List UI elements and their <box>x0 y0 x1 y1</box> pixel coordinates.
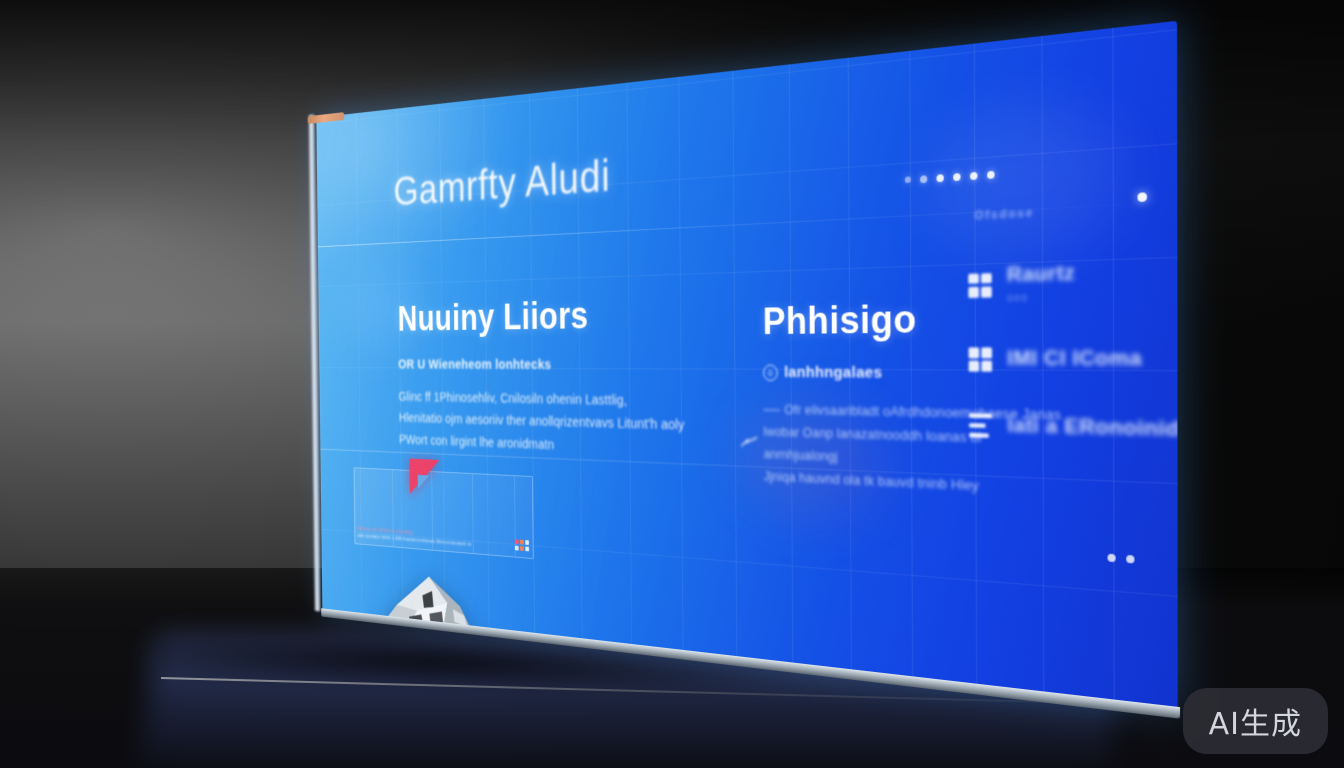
ai-generated-watermark: AI生成 <box>1183 688 1328 754</box>
check-tick-icon <box>740 436 758 449</box>
dash-lead-icon <box>763 409 779 411</box>
step-dot[interactable] <box>936 174 943 182</box>
panel-screen: Gamrfty Aludi Nuuiny Liiors OR U Wienehe… <box>316 21 1177 709</box>
sidebar-item-label: lati a ERonoinid <box>1007 414 1177 443</box>
circle-face-icon: ☺ <box>763 365 778 381</box>
body-line: lwobar Oanp lanazatnooddh loanas bl anrn… <box>763 421 1067 478</box>
right-column-heading: Phhisigo <box>763 294 1067 344</box>
step-dot[interactable] <box>987 171 995 179</box>
sidebar-item-label: Raurtz <box>1007 261 1076 287</box>
body-line: Jjniqa hauvnd ola tk bauvd tninb Hley <box>764 465 1068 502</box>
right-column-subheading-row: ☺ lanhhngalaes <box>763 364 1067 385</box>
corner-status-dot <box>1137 192 1147 202</box>
bars-list-icon <box>969 413 992 438</box>
sidebar-panel: Ofsdose Raurtz ooo IMI Cl IComa <box>968 199 1173 443</box>
watermark-label: AI生成 <box>1209 699 1302 743</box>
step-dot[interactable] <box>970 172 977 180</box>
step-dot[interactable] <box>905 176 911 183</box>
sidebar-item-3[interactable]: lati a ERonoinid <box>969 413 1173 443</box>
bottom-dot[interactable] <box>1126 555 1134 564</box>
scene-stage: Gamrfty Aludi Nuuiny Liiors OR U Wienehe… <box>0 0 1344 768</box>
sidebar-item-1[interactable]: Raurtz ooo <box>968 258 1172 306</box>
sidebar-caption: Ofsdose <box>974 199 1172 223</box>
bottom-dot[interactable] <box>1108 554 1116 563</box>
screen-corner-glow <box>316 21 628 366</box>
screen-glow-blob <box>926 97 1125 256</box>
sidebar-item-2[interactable]: IMI Cl IComa <box>969 347 1173 373</box>
step-dots-indicator[interactable] <box>905 171 995 185</box>
grid-squares-icon <box>968 273 992 298</box>
display-panel-slab: Gamrfty Aludi Nuuiny Liiors OR U Wienehe… <box>311 15 1187 724</box>
right-column: Phhisigo ☺ lanhhngalaes Ofr elivsaaribla… <box>763 294 1068 503</box>
sidebar-item-label: IMI Cl IComa <box>1007 347 1142 373</box>
step-dot[interactable] <box>953 173 960 181</box>
sidebar-item-sublabel: ooo <box>1007 291 1075 305</box>
right-column-subheading: lanhhngalaes <box>784 364 882 383</box>
step-dot[interactable] <box>920 175 927 183</box>
screen-glow-blob <box>736 404 887 523</box>
bottom-dots-indicator[interactable] <box>1108 554 1135 564</box>
right-column-body: Ofr elivsaaribladt oAfrdhdonoemohaese Ja… <box>763 398 1067 503</box>
panel-perspective-wrapper: Gamrfty Aludi Nuuiny Liiors OR U Wienehe… <box>162 70 1162 670</box>
body-line: Ofr elivsaaribladt oAfrdhdonoemohaese Ja… <box>763 398 1067 428</box>
grid-squares-icon <box>969 347 993 371</box>
